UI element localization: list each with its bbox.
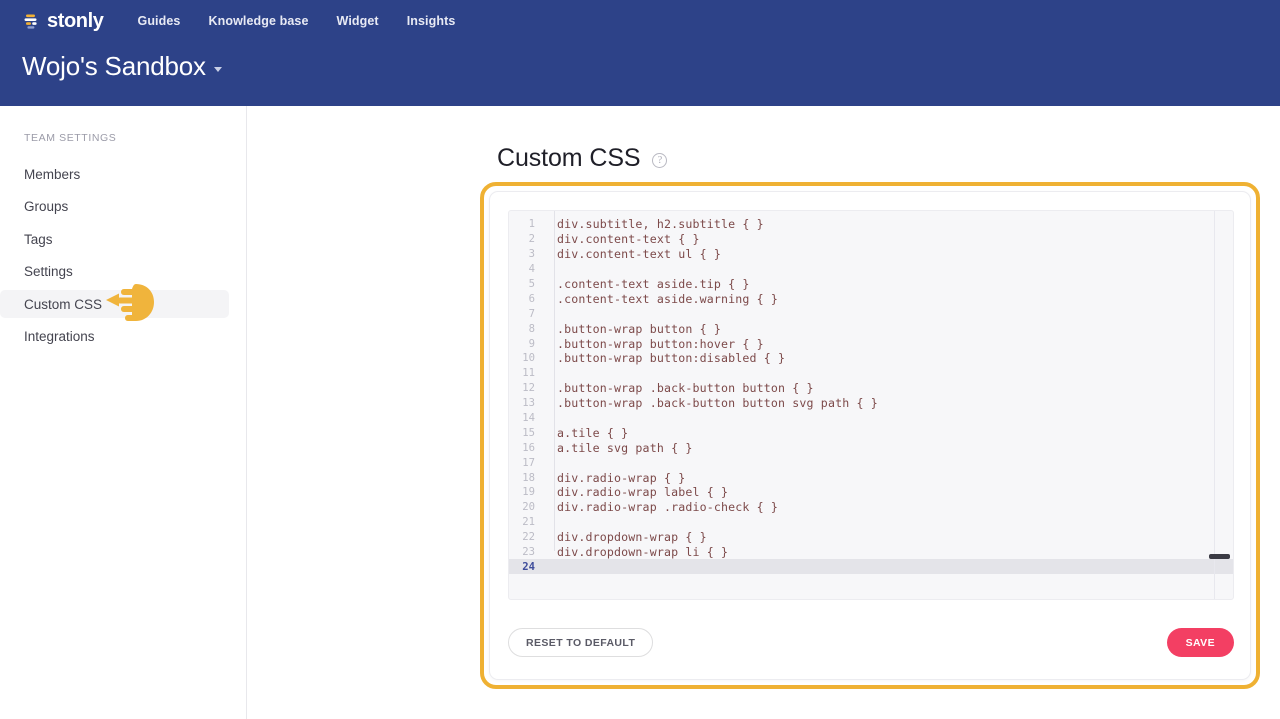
code-line[interactable]: 18div.radio-wrap { }	[509, 470, 1233, 485]
code-text: a.tile { }	[545, 426, 628, 440]
question-mark-circle-icon[interactable]: ?	[652, 153, 667, 168]
line-number: 13	[509, 397, 545, 409]
line-number: 16	[509, 442, 545, 454]
code-line[interactable]: 3div.content-text ul { }	[509, 247, 1233, 262]
code-line[interactable]: 12.button-wrap .back-button button { }	[509, 381, 1233, 396]
code-text: div.subtitle, h2.subtitle { }	[545, 217, 764, 231]
gutter-separator	[554, 211, 555, 551]
line-number: 14	[509, 412, 545, 424]
sidebar-item-label: Integrations	[24, 329, 95, 344]
sidebar-item-label: Custom CSS	[24, 297, 102, 312]
line-number: 5	[509, 278, 545, 290]
code-line[interactable]: 4	[509, 262, 1233, 277]
code-text: .button-wrap button:disabled { }	[545, 351, 785, 365]
save-button[interactable]: SAVE	[1167, 628, 1234, 657]
code-text: .content-text aside.warning { }	[545, 292, 778, 306]
chevron-down-icon	[214, 67, 222, 72]
page-title: Custom CSS	[497, 144, 640, 173]
code-text: .content-text aside.tip { }	[545, 277, 750, 291]
code-line[interactable]: 13.button-wrap .back-button button svg p…	[509, 396, 1233, 411]
code-line[interactable]: 9.button-wrap button:hover { }	[509, 336, 1233, 351]
line-number: 10	[509, 352, 545, 364]
code-line[interactable]: 1div.subtitle, h2.subtitle { }	[509, 217, 1233, 232]
sidebar-item-label: Members	[24, 167, 80, 182]
sidebar-item-label: Groups	[24, 199, 68, 214]
code-text: div.radio-wrap .radio-check { }	[545, 500, 778, 514]
code-text: div.radio-wrap label { }	[545, 485, 728, 499]
code-lines-container: 1div.subtitle, h2.subtitle { }2div.conte…	[509, 211, 1233, 574]
code-text: a.tile svg path { }	[545, 441, 692, 455]
code-line[interactable]: 19div.radio-wrap label { }	[509, 485, 1233, 500]
nav-link-knowledge-base[interactable]: Knowledge base	[208, 14, 308, 28]
code-text: .button-wrap .back-button button { }	[545, 381, 814, 395]
stonly-logo-text: stonly	[47, 11, 104, 31]
line-number: 7	[509, 308, 545, 320]
nav-link-insights[interactable]: Insights	[407, 14, 456, 28]
line-number: 23	[509, 546, 545, 558]
nav-link-guides[interactable]: Guides	[138, 14, 181, 28]
code-line[interactable]: 24	[509, 559, 1233, 574]
code-text: div.content-text ul { }	[545, 247, 721, 261]
line-number: 22	[509, 531, 545, 543]
code-line[interactable]: 8.button-wrap button { }	[509, 321, 1233, 336]
line-number: 2	[509, 233, 545, 245]
line-number: 18	[509, 472, 545, 484]
line-number: 9	[509, 338, 545, 350]
top-navigation-bar: stonly Guides Knowledge base Widget Insi…	[0, 0, 1280, 106]
page-header: Custom CSS ?	[497, 144, 667, 173]
code-line[interactable]: 21	[509, 515, 1233, 530]
code-line[interactable]: 7	[509, 306, 1233, 321]
card-footer-buttons: RESET TO DEFAULT SAVE	[508, 628, 1234, 657]
code-text: div.dropdown-wrap { }	[545, 530, 707, 544]
line-number: 17	[509, 457, 545, 469]
nav-row: stonly Guides Knowledge base Widget Insi…	[0, 0, 1280, 42]
code-text: .button-wrap .back-button button svg pat…	[545, 396, 878, 410]
code-line[interactable]: 10.button-wrap button:disabled { }	[509, 351, 1233, 366]
reset-to-default-button[interactable]: RESET TO DEFAULT	[508, 628, 653, 657]
team-selector[interactable]: Wojo's Sandbox	[22, 52, 222, 81]
main-content: Custom CSS ? 1div.subtitle, h2.subtitle …	[248, 106, 1280, 719]
line-number: 24	[509, 561, 545, 573]
code-text: .button-wrap button { }	[545, 322, 721, 336]
line-number: 4	[509, 263, 545, 275]
sidebar-item-label: Tags	[24, 232, 53, 247]
nav-link-widget[interactable]: Widget	[337, 14, 379, 28]
line-number: 12	[509, 382, 545, 394]
code-line[interactable]: 2div.content-text { }	[509, 232, 1233, 247]
line-number: 11	[509, 367, 545, 379]
line-number: 6	[509, 293, 545, 305]
line-number: 8	[509, 323, 545, 335]
stonly-logo[interactable]: stonly	[22, 11, 104, 31]
stonly-stack-logo-icon	[22, 11, 42, 31]
horizontal-scrollbar-thumb[interactable]	[1209, 554, 1230, 559]
line-number: 19	[509, 486, 545, 498]
code-line[interactable]: 17	[509, 455, 1233, 470]
nav-links: Guides Knowledge base Widget Insights	[138, 14, 456, 28]
sidebar-item-groups[interactable]: Groups	[0, 193, 229, 221]
sidebar: TEAM SETTINGS Members Groups Tags Settin…	[0, 106, 247, 719]
sidebar-heading: TEAM SETTINGS	[0, 132, 246, 144]
code-line[interactable]: 5.content-text aside.tip { }	[509, 277, 1233, 292]
code-line[interactable]: 22div.dropdown-wrap { }	[509, 530, 1233, 545]
css-code-editor[interactable]: 1div.subtitle, h2.subtitle { }2div.conte…	[508, 210, 1234, 600]
sidebar-item-members[interactable]: Members	[0, 160, 229, 188]
code-text: div.dropdown-wrap li { }	[545, 545, 728, 559]
code-line[interactable]: 20div.radio-wrap .radio-check { }	[509, 500, 1233, 515]
sidebar-item-integrations[interactable]: Integrations	[0, 323, 229, 351]
custom-css-card: 1div.subtitle, h2.subtitle { }2div.conte…	[489, 191, 1251, 680]
sidebar-item-settings[interactable]: Settings	[0, 258, 229, 286]
app-root: stonly Guides Knowledge base Widget Insi…	[0, 0, 1280, 719]
line-number: 3	[509, 248, 545, 260]
editor-right-rule	[1214, 211, 1215, 599]
code-line[interactable]: 6.content-text aside.warning { }	[509, 291, 1233, 306]
code-line[interactable]: 15a.tile { }	[509, 425, 1233, 440]
code-text: div.radio-wrap { }	[545, 471, 685, 485]
team-name: Wojo's Sandbox	[22, 52, 206, 81]
sidebar-item-custom-css[interactable]: Custom CSS	[0, 290, 229, 318]
code-line[interactable]: 16a.tile svg path { }	[509, 440, 1233, 455]
line-number: 20	[509, 501, 545, 513]
line-number: 1	[509, 218, 545, 230]
code-text: div.content-text { }	[545, 232, 700, 246]
sidebar-item-tags[interactable]: Tags	[0, 225, 229, 253]
line-number: 15	[509, 427, 545, 439]
code-line[interactable]: 23div.dropdown-wrap li { }	[509, 545, 1233, 560]
line-number: 21	[509, 516, 545, 528]
code-line[interactable]: 11	[509, 366, 1233, 381]
code-text: .button-wrap button:hover { }	[545, 337, 764, 351]
sidebar-item-label: Settings	[24, 264, 73, 279]
code-line[interactable]: 14	[509, 411, 1233, 426]
